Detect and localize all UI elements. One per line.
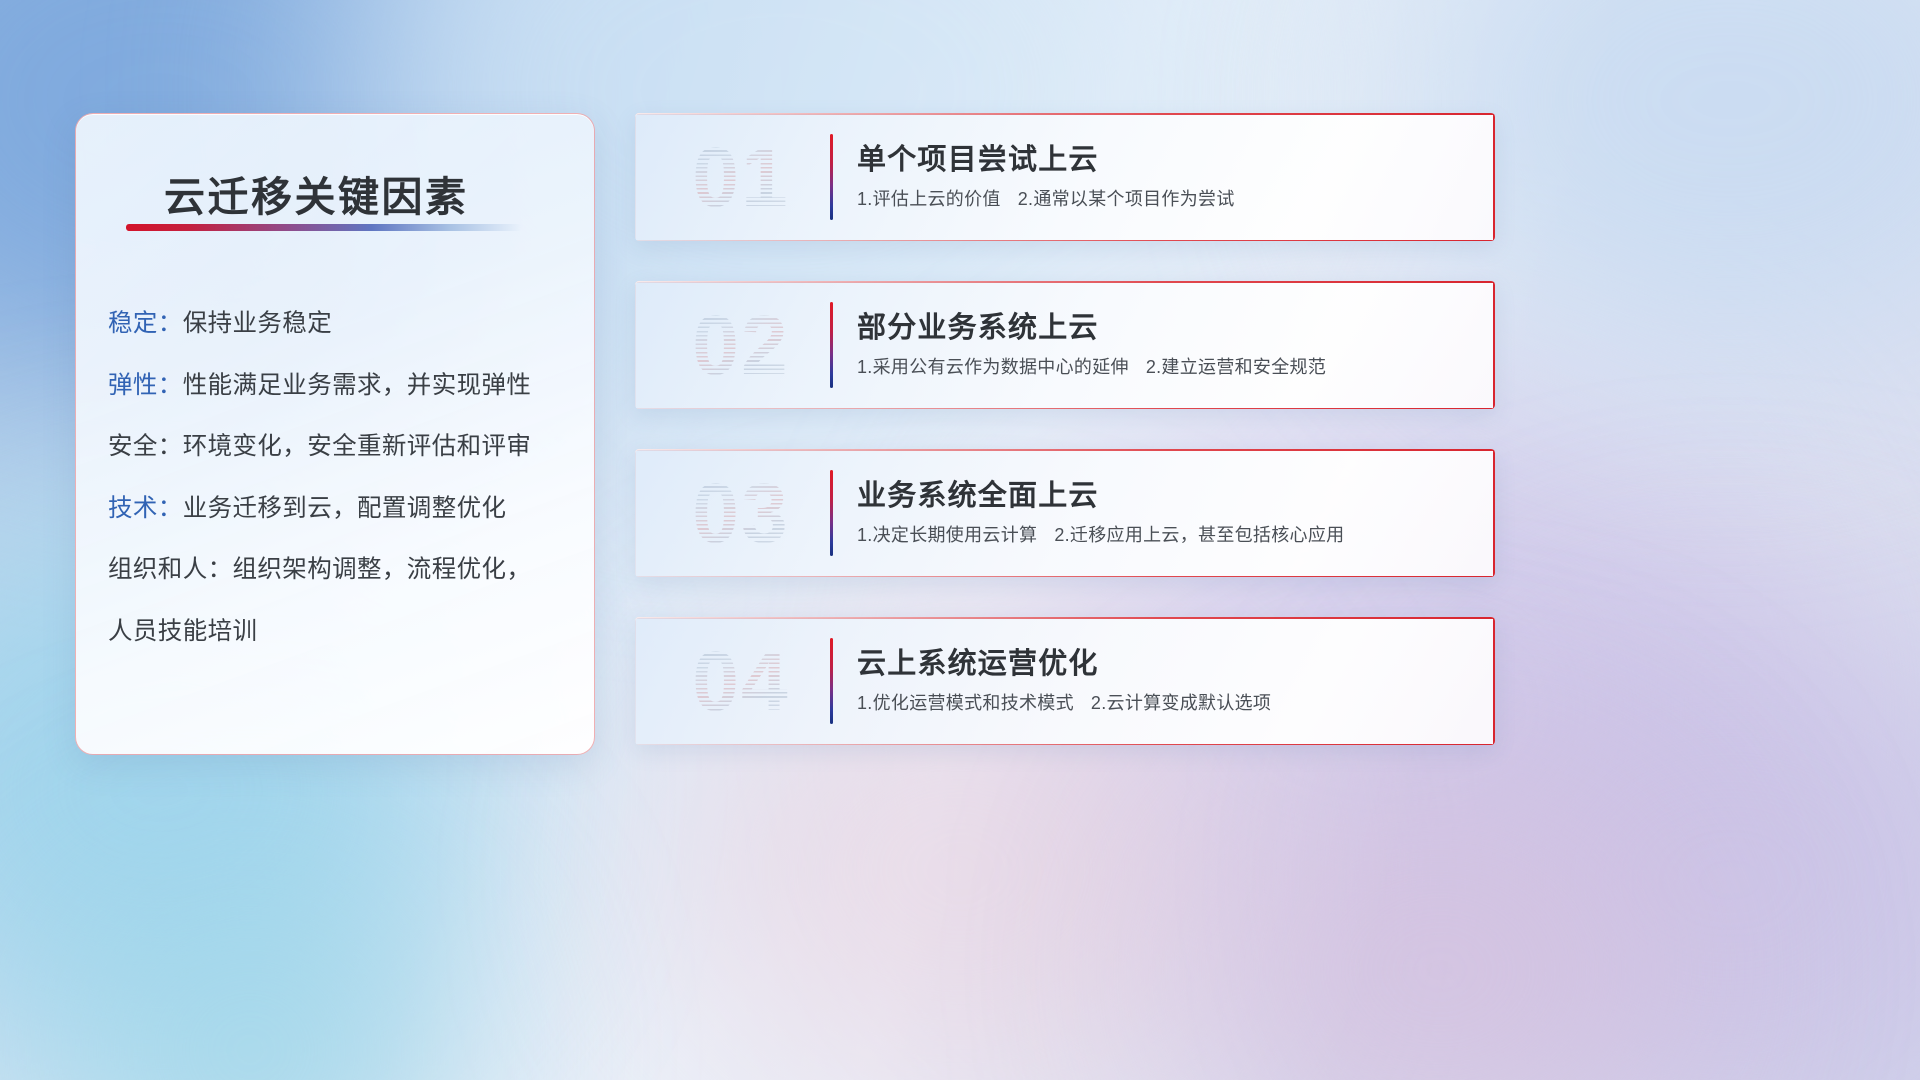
step-subtitle-part-2: 2.迁移应用上云，甚至包括核心应用	[1054, 525, 1344, 545]
step-card-border-l	[635, 617, 636, 745]
step-number-watermark: 02	[657, 293, 825, 397]
step-card-border-r	[1493, 281, 1495, 409]
step-number-text: 03	[692, 465, 789, 562]
key-factor-line: 组织和人：组织架构调整，流程优化，	[108, 558, 570, 583]
step-card-border-r	[1493, 113, 1495, 241]
key-factor-label: 技术：	[108, 495, 183, 522]
step-title: 部分业务系统上云	[857, 312, 1471, 344]
cloud-migration-steps: 01单个项目尝试上云1.评估上云的价值2.通常以某个项目作为尝试02部分业务系统…	[635, 113, 1495, 745]
step-title: 业务系统全面上云	[857, 480, 1471, 512]
step-title: 单个项目尝试上云	[857, 144, 1471, 176]
step-body: 业务系统全面上云1.决定长期使用云计算2.迁移应用上云，甚至包括核心应用	[857, 480, 1471, 546]
key-factor-text: 保持业务稳定	[183, 310, 332, 337]
step-card-border-b	[635, 408, 1495, 410]
step-subtitle-part-1: 1.评估上云的价值	[857, 189, 1001, 209]
key-factor-text: 环境变化，安全重新评估和评审	[183, 433, 532, 460]
step-subtitle-part-2: 2.通常以某个项目作为尝试	[1018, 189, 1235, 209]
key-factor-label: 组织和人：	[108, 556, 233, 583]
key-factor-line: 安全：环境变化，安全重新评估和评审	[108, 435, 570, 460]
step-body: 云上系统运营优化1.优化运营模式和技术模式2.云计算变成默认选项	[857, 648, 1471, 714]
step-divider-bar	[830, 302, 833, 388]
step-divider-bar	[830, 134, 833, 220]
step-subtitle: 1.决定长期使用云计算2.迁移应用上云，甚至包括核心应用	[857, 525, 1471, 546]
key-factor-label: 安全：	[108, 433, 183, 460]
step-card[interactable]: 04云上系统运营优化1.优化运营模式和技术模式2.云计算变成默认选项	[635, 617, 1495, 745]
step-card-border-t	[635, 449, 1495, 451]
key-factor-line: 人员技能培训	[108, 620, 570, 645]
page-title: 云迁移关键因素	[164, 163, 469, 223]
step-number-watermark: 04	[657, 629, 825, 733]
step-card-border-b	[635, 240, 1495, 242]
step-card-border-l	[635, 281, 636, 409]
key-factor-text: 性能满足业务需求，并实现弹性	[183, 372, 532, 399]
step-card-border-b	[635, 744, 1495, 746]
step-divider-bar	[830, 638, 833, 724]
title-underline-rule	[126, 224, 522, 231]
step-body: 单个项目尝试上云1.评估上云的价值2.通常以某个项目作为尝试	[857, 144, 1471, 210]
step-card-border-r	[1493, 449, 1495, 577]
step-number-watermark: 03	[657, 461, 825, 565]
key-factor-text: 业务迁移到云，配置调整优化	[183, 495, 507, 522]
key-factor-text: 人员技能培训	[108, 618, 257, 645]
step-card-border-l	[635, 113, 636, 241]
step-subtitle: 1.评估上云的价值2.通常以某个项目作为尝试	[857, 189, 1471, 210]
step-title: 云上系统运营优化	[857, 648, 1471, 680]
key-factor-line: 稳定：保持业务稳定	[108, 312, 570, 337]
step-card[interactable]: 02部分业务系统上云1.采用公有云作为数据中心的延伸2.建立运营和安全规范	[635, 281, 1495, 409]
step-card-border-t	[635, 113, 1495, 115]
key-factor-line: 技术：业务迁移到云，配置调整优化	[108, 497, 570, 522]
step-card-border-t	[635, 617, 1495, 619]
step-number-text: 01	[692, 129, 789, 226]
key-factor-label: 弹性：	[108, 372, 183, 399]
step-subtitle-part-1: 1.采用公有云作为数据中心的延伸	[857, 357, 1129, 377]
step-subtitle-part-2: 2.建立运营和安全规范	[1146, 357, 1326, 377]
step-body: 部分业务系统上云1.采用公有云作为数据中心的延伸2.建立运营和安全规范	[857, 312, 1471, 378]
step-divider-bar	[830, 470, 833, 556]
step-number-watermark: 01	[657, 125, 825, 229]
key-factors-panel: 云迁移关键因素 稳定：保持业务稳定弹性：性能满足业务需求，并实现弹性安全：环境变…	[75, 113, 595, 755]
key-factor-text: 组织架构调整，流程优化，	[233, 556, 532, 583]
step-card-border-l	[635, 449, 636, 577]
step-number-text: 04	[692, 633, 789, 730]
step-card[interactable]: 03业务系统全面上云1.决定长期使用云计算2.迁移应用上云，甚至包括核心应用	[635, 449, 1495, 577]
step-subtitle-part-1: 1.优化运营模式和技术模式	[857, 693, 1074, 713]
step-card-border-b	[635, 576, 1495, 578]
step-card[interactable]: 01单个项目尝试上云1.评估上云的价值2.通常以某个项目作为尝试	[635, 113, 1495, 241]
step-subtitle: 1.采用公有云作为数据中心的延伸2.建立运营和安全规范	[857, 357, 1471, 378]
step-card-border-r	[1493, 617, 1495, 745]
step-subtitle: 1.优化运营模式和技术模式2.云计算变成默认选项	[857, 693, 1471, 714]
step-number-text: 02	[692, 297, 789, 394]
step-subtitle-part-2: 2.云计算变成默认选项	[1091, 693, 1271, 713]
step-subtitle-part-1: 1.决定长期使用云计算	[857, 525, 1037, 545]
key-factors-list: 稳定：保持业务稳定弹性：性能满足业务需求，并实现弹性安全：环境变化，安全重新评估…	[108, 312, 570, 644]
key-factor-line: 弹性：性能满足业务需求，并实现弹性	[108, 374, 570, 399]
step-card-border-t	[635, 281, 1495, 283]
key-factor-label: 稳定：	[108, 310, 183, 337]
